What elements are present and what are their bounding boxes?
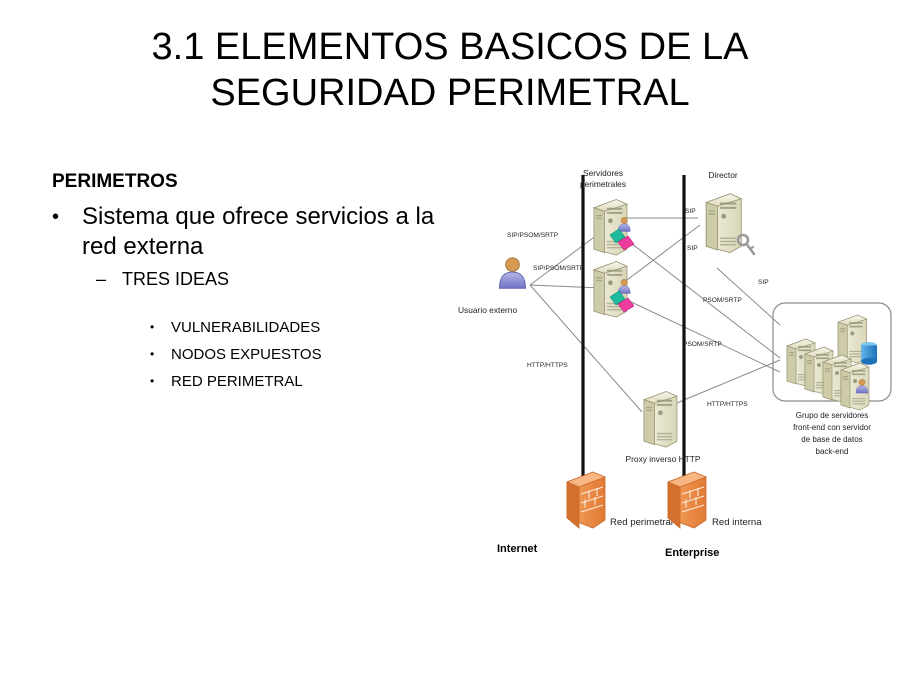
node-label-director: Director [708,170,738,180]
node-server-group: Grupo de servidores front-end con servid… [773,303,891,456]
node-label-server-group-line1: Grupo de servidores [796,411,868,420]
bullet-level2: – TRES IDEAS [96,266,452,292]
node-label-perimeter-servers: Servidores perimetrales [580,168,626,189]
list-item: • NODOS EXPUESTOS [150,341,452,368]
zone-label-internet: Internet [497,543,538,555]
database-icon [861,342,877,365]
link-label-proxy-group: HTTP/HTTPS [707,401,748,408]
bullet-marker-icon: • [150,341,171,368]
node-label-server-group-line2: front-end con servidor [793,423,871,432]
section-heading: PERIMETROS [52,170,452,194]
bullet-level2-text: TRES IDEAS [122,266,229,292]
page-title: 3.1 ELEMENTOS BASICOS DE LA SEGURIDAD PE… [90,24,810,116]
node-label-external-user: Usuario externo [458,305,517,315]
svg-text:perimetrales: perimetrales [580,179,626,189]
connector-lines [530,218,780,412]
list-item: • VULNERABILIDADES [150,314,452,341]
link-label-srv-group-2: PSOM/SRTP [683,341,722,348]
page-title-line2: SEGURIDAD PERIMETRAL [90,70,810,116]
content-column: PERIMETROS • Sistema que ofrece servicio… [52,170,452,395]
link-label-srv2-director: SIP [687,245,698,252]
link-label-director-group: SIP [758,279,769,286]
bullet-marker-icon: • [52,202,82,232]
bullet-marker-icon: • [150,314,171,341]
node-director: Director [706,170,754,254]
bullet-level3-text: RED PERIMETRAL [171,368,303,395]
node-label-server-group-line3: de base de datos [801,435,862,444]
page-title-line1: 3.1 ELEMENTOS BASICOS DE LA [152,26,749,68]
bullet-marker-icon: • [150,368,171,395]
node-firewall-perimeter: Red perimetral [567,472,673,528]
node-external-user: Usuario externo [458,258,526,315]
list-item: • RED PERIMETRAL [150,368,452,395]
bullet-level3-text: VULNERABILIDADES [171,314,320,341]
bullet-level1: • Sistema que ofrece servicios a la red … [52,202,452,262]
node-label-reverse-proxy: Proxy inverso HTTP [626,454,701,464]
node-label-internal-net: Red interna [712,517,762,528]
zone-label-enterprise: Enterprise [665,547,719,559]
link-label-user-proxy: HTTP/HTTPS [527,362,568,369]
node-perimeter-server-2 [594,262,634,317]
slide-canvas: 3.1 ELEMENTOS BASICOS DE LA SEGURIDAD PE… [0,0,900,675]
link-label-srv1-director: SIP [685,208,696,215]
bullet-level3-text: NODOS EXPUESTOS [171,341,322,368]
node-reverse-proxy: Proxy inverso HTTP [626,392,701,464]
link-label-user-srv1: SIP/PSOM/SRTP [507,232,559,239]
dash-marker-icon: – [96,266,122,292]
svg-text:Servidores: Servidores [583,168,623,178]
node-perimeter-server-1 [594,200,634,255]
network-architecture-diagram: Usuario externo Servidores perimetrales [455,160,900,565]
bullet-level1-text: Sistema que ofrece servicios a la red ex… [82,202,452,262]
node-firewall-internal: Red interna [668,472,762,528]
node-label-server-group-line4: back-end [816,447,849,456]
link-label-user-srv2: SIP/PSOM/SRTP [533,265,585,272]
node-label-perimeter-net: Red perimetral [610,517,673,528]
bullet-level3-list: • VULNERABILIDADES • NODOS EXPUESTOS • R… [150,314,452,395]
link-label-srv-group-1: PSOM/SRTP [703,297,742,304]
